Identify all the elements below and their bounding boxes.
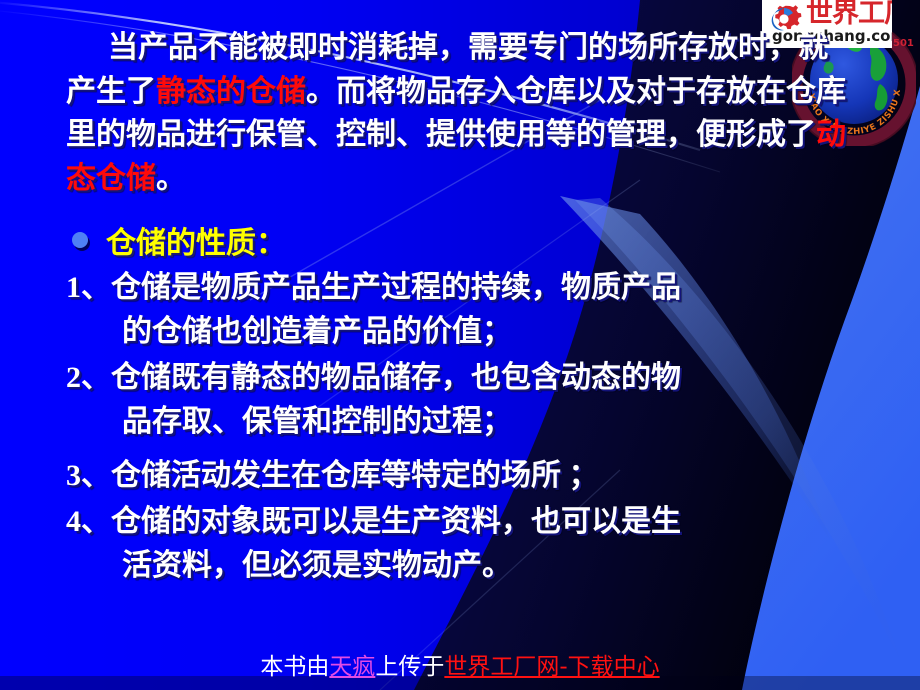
list-item: 1、仓储是物质产品生产过程的持续，物质产品 的仓储也创造着产品的价值； [66,266,866,353]
paragraph-segment-3: 。 [156,162,186,195]
footer-site-link[interactable]: 世界工厂网-下载中心 [444,654,659,680]
list-item: 4、仓储的对象既可以是生产资料，也可以是生 活资料，但必须是实物动产。 [66,500,866,587]
slide-content: 当产品不能被即时消耗掉，需要专门的场所存放时，就产生了静态的仓储。而将物品存入仓… [0,0,920,690]
footer-credit: 本书由天疯上传于世界工厂网-下载中心 [0,652,920,682]
list-item-line1: 仓储活动发生在仓库等特定的场所 ； [111,459,599,492]
section-heading-label: 仓储的性质： [106,218,286,262]
list-item: 2、仓储既有静态的物品储存，也包含动态的物 品存取、保管和控制的过程； [66,356,866,443]
intro-paragraph: 当产品不能被即时消耗掉，需要专门的场所存放时，就产生了静态的仓储。而将物品存入仓… [66,26,856,200]
presentation-slide: XIAO XIAO ZHIYE ZISHU XUEYUAN 501 世界工厂 g… [0,0,920,690]
list-item-line2: 活资料，但必须是实物动产。 [66,544,866,588]
list-item-line1: 仓储的对象既可以是生产资料，也可以是生 [111,505,681,538]
paragraph-highlight-static: 静态的仓储 [156,75,306,108]
footer-prefix: 本书由 [260,654,329,680]
list-item-number: 2、 [66,361,111,394]
footer-middle: 上传于 [375,654,444,680]
list-item: 3、仓储活动发生在仓库等特定的场所 ； [66,454,866,498]
list-item-line1: 仓储是物质产品生产过程的持续，物质产品 [111,271,681,304]
list-item-line2: 品存取、保管和控制的过程； [66,400,866,444]
list-item-line1: 仓储既有静态的物品储存，也包含动态的物 [111,361,681,394]
filled-circle-bullet-icon [72,232,88,248]
list-item-line2: 的仓储也创造着产品的价值； [66,310,866,354]
list-item-number: 1、 [66,271,111,304]
section-heading: 仓储的性质： [72,218,286,262]
list-item-number: 4、 [66,505,111,538]
list-item-number: 3、 [66,459,111,492]
footer-uploader-link[interactable]: 天疯 [329,654,375,680]
